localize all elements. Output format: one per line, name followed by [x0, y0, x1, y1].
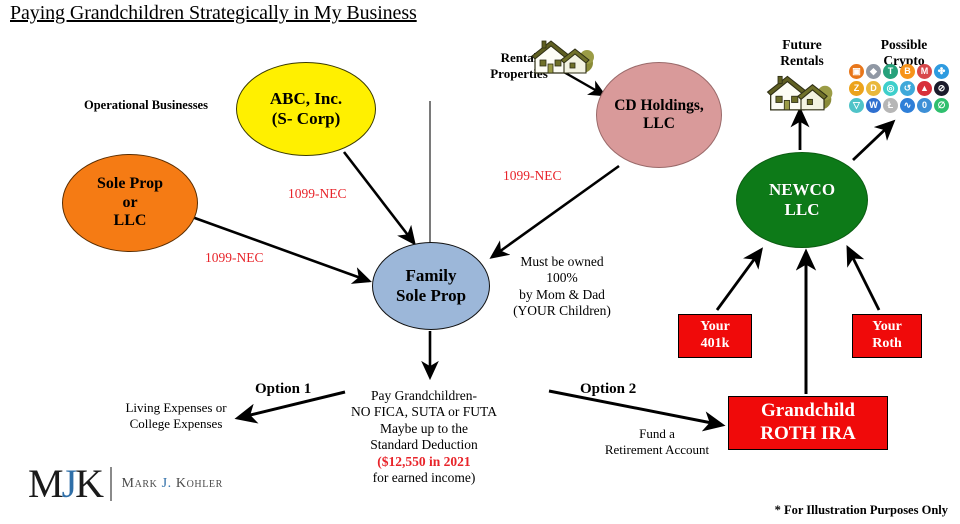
node-sole-prop-line3: LLC	[114, 212, 147, 231]
node-newco-line2: LLC	[785, 200, 820, 220]
ownership-line2: 100%	[500, 270, 624, 286]
node-family-sole-prop-line1: Family	[406, 266, 457, 286]
label-disclaimer: * For Illustration Purposes Only	[775, 503, 948, 518]
label-pay-grandchildren-note: Pay Grandchildren- NO FICA, SUTA or FUTA…	[344, 388, 504, 487]
nano-coin-icon: ⊘	[934, 81, 949, 96]
mjk-logo: MJK Mark J. Kohler	[28, 460, 223, 508]
stellar-coin-icon: ◎	[883, 81, 898, 96]
pay-line4: Standard Deduction	[344, 437, 504, 453]
edge-roth-to-newco	[848, 248, 879, 310]
page-title: Paying Grandchildren Strategically in My…	[10, 2, 417, 25]
living-expenses-line1: Living Expenses or	[117, 400, 235, 416]
crypto-icon-grid: ▣◆TBM✤ZD◎↺▲⊘▽WŁ∿0∅	[849, 64, 951, 115]
label-1099-nec-soleprop: 1099-NEC	[205, 250, 264, 266]
box-grandchild-roth-ira[interactable]: Grandchild ROTH IRA	[728, 396, 888, 450]
ethereum-coin-icon: ◆	[866, 64, 881, 79]
box-your-roth-line1: Your	[872, 319, 902, 336]
house-icon-future-rentals	[766, 68, 836, 114]
box-your-roth[interactable]: Your Roth	[852, 314, 922, 358]
mjk-monogram-k: K	[75, 461, 102, 506]
pay-line6: for earned income)	[344, 470, 504, 486]
label-1099-nec-abc: 1099-NEC	[288, 186, 347, 202]
box-grandchild-roth-ira-line2: ROTH IRA	[760, 423, 856, 446]
label-possible-crypto-line1: Possible	[862, 37, 946, 53]
label-option-2: Option 2	[580, 380, 636, 398]
logo-name-first: Mark	[122, 476, 162, 491]
ownership-line4: (YOUR Children)	[500, 303, 624, 319]
ownership-line3: by Mom & Dad	[500, 287, 624, 303]
qtum-coin-icon: ▽	[849, 98, 864, 113]
omisego-coin-icon: ▣	[849, 64, 864, 79]
fund-retirement-line2: Retirement Account	[597, 442, 717, 458]
label-option-1: Option 1	[255, 380, 311, 398]
polygon-coin-icon: ∿	[900, 98, 915, 113]
logo-divider	[110, 467, 112, 501]
box-your-401k[interactable]: Your 401k	[678, 314, 752, 358]
diagram-canvas: Paying Grandchildren Strategically in My…	[0, 0, 960, 524]
box-your-401k-line1: Your	[700, 319, 730, 336]
fund-retirement-line1: Fund a	[597, 426, 717, 442]
box-your-401k-line2: 401k	[701, 336, 730, 353]
monero-coin-icon: M	[917, 64, 932, 79]
edge-newco-to-crypto	[853, 122, 893, 160]
edge-401k-to-newco	[717, 250, 761, 310]
logo-name-middle: J.	[162, 476, 172, 491]
node-family-sole-prop-line2: Sole Prop	[396, 286, 466, 306]
node-newco-line1: NEWCO	[769, 180, 835, 200]
litecoin-coin-icon: Ł	[883, 98, 898, 113]
living-expenses-line2: College Expenses	[117, 416, 235, 432]
node-newco-llc[interactable]: NEWCO LLC	[736, 152, 868, 248]
mjk-monogram-j: J	[62, 461, 76, 506]
node-sole-prop-line1: Sole Prop	[97, 175, 163, 194]
edge-abc-to-family	[344, 152, 414, 243]
mjk-monogram-m: M	[28, 461, 62, 506]
logo-name-text: Mark J. Kohler	[122, 476, 223, 492]
label-future-rentals: Future Rentals	[764, 37, 840, 70]
node-family-sole-prop[interactable]: Family Sole Prop	[372, 242, 490, 330]
bitcoin-coin-icon: B	[900, 64, 915, 79]
box-grandchild-roth-ira-line1: Grandchild	[761, 400, 855, 423]
label-fund-retirement-account: Fund a Retirement Account	[597, 426, 717, 458]
node-cd-holdings-line2: LLC	[643, 115, 675, 133]
node-cd-holdings-llc[interactable]: CD Holdings, LLC	[596, 62, 722, 168]
zcash-coin-icon: Z	[849, 81, 864, 96]
node-cd-holdings-line1: CD Holdings,	[614, 97, 704, 115]
edge-soleprop-to-family	[192, 217, 369, 281]
pay-line2: NO FICA, SUTA or FUTA	[344, 404, 504, 420]
pay-line3: Maybe up to the	[344, 421, 504, 437]
label-ownership-note: Must be owned 100% by Mom & Dad (YOUR Ch…	[500, 254, 624, 320]
pay-line1: Pay Grandchildren-	[344, 388, 504, 404]
eos-coin-icon: ↺	[900, 81, 915, 96]
node-abc-inc-line2: (S- Corp)	[272, 109, 340, 129]
ownership-line1: Must be owned	[500, 254, 624, 270]
node-abc-inc-line1: ABC, Inc.	[270, 89, 342, 109]
pay-line5-standard-deduction-amount: ($12,550 in 2021	[344, 454, 504, 470]
zilliqa-coin-icon: ∅	[934, 98, 949, 113]
node-abc-inc[interactable]: ABC, Inc. (S- Corp)	[236, 62, 376, 156]
label-future-rentals-line1: Future	[764, 37, 840, 53]
node-sole-prop-line2: or	[122, 194, 137, 213]
box-your-roth-line2: Roth	[872, 336, 902, 353]
label-operational-businesses: Operational Businesses	[84, 98, 208, 113]
mjk-monogram: MJK	[28, 464, 102, 504]
dogecoin-coin-icon: D	[866, 81, 881, 96]
label-1099-nec-cdholdings: 1099-NEC	[503, 168, 562, 184]
label-living-college-expenses: Living Expenses or College Expenses	[117, 400, 235, 432]
logo-name-last: Kohler	[172, 476, 223, 491]
zero-coin-icon: 0	[917, 98, 932, 113]
avalanche-coin-icon: ▲	[917, 81, 932, 96]
house-icon-rental-properties	[531, 33, 597, 77]
waves-coin-icon: W	[866, 98, 881, 113]
node-sole-prop-or-llc[interactable]: Sole Prop or LLC	[62, 154, 198, 252]
ripple-coin-icon: ✤	[934, 64, 949, 79]
tether-coin-icon: T	[883, 64, 898, 79]
